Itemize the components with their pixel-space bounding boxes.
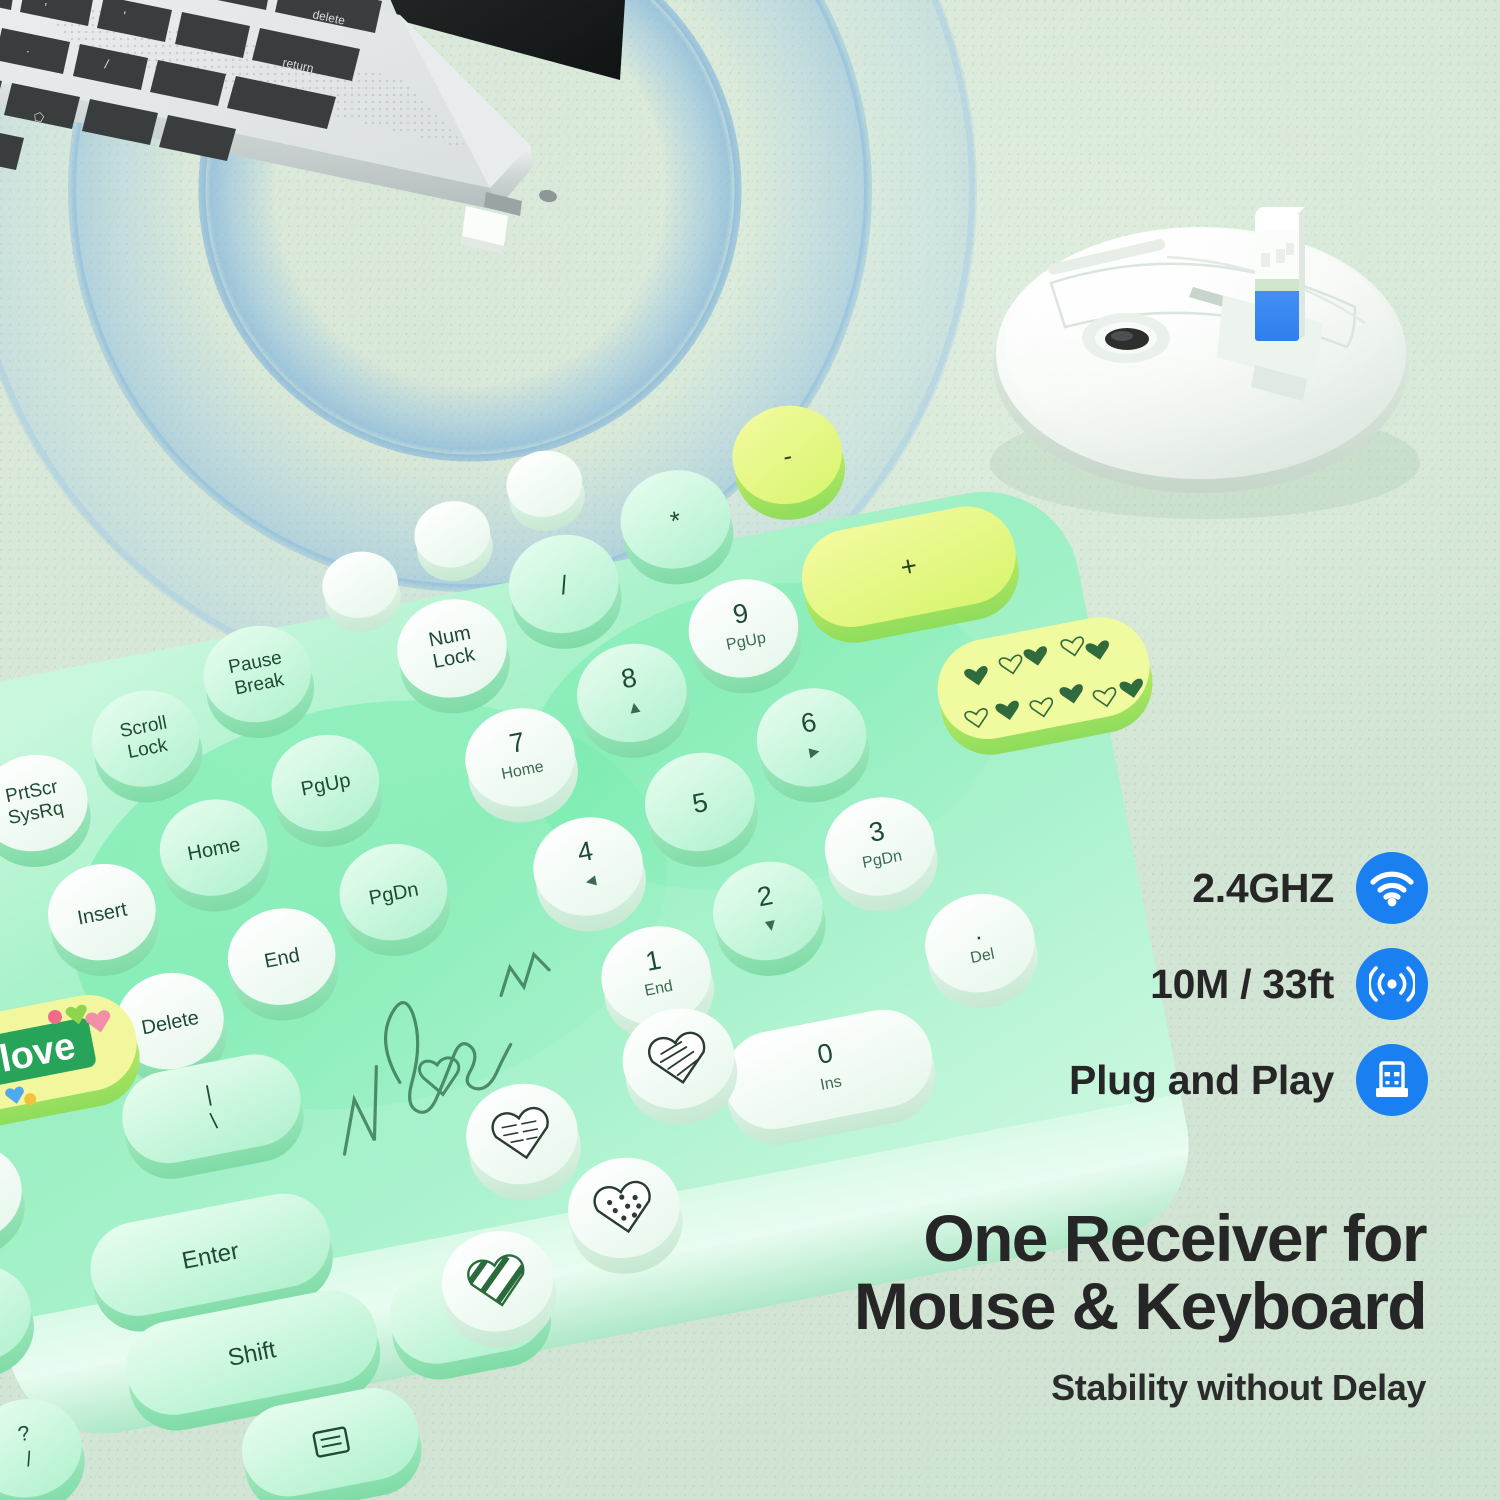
feature-row-2-4ghz: 2.4GHZ: [1192, 852, 1428, 924]
feature-list: 2.4GHZ 10M / 33ft: [1069, 852, 1428, 1116]
feature-row-plug-and-play: Plug and Play: [1069, 1044, 1428, 1116]
usb-nano-receiver: [1255, 207, 1305, 341]
usb-dongle-icon: [1356, 1044, 1428, 1116]
headline-line-1: One Receiver for: [854, 1205, 1426, 1273]
wifi-icon: [1356, 852, 1428, 924]
headline-line-2: Mouse & Keyboard: [854, 1273, 1426, 1341]
svg-text:►: ►: [804, 741, 824, 763]
headline-block: One Receiver for Mouse & Keyboard Stabil…: [854, 1205, 1426, 1409]
svg-text:▲: ▲: [624, 696, 644, 718]
numpad-minus-key: -: [724, 396, 854, 529]
feature-label-plug-and-play: Plug and Play: [1069, 1060, 1334, 1101]
laptop-device: F11 F12 F10: [0, 0, 650, 390]
radio-wave-icon: [1356, 948, 1428, 1020]
feature-row-range: 10M / 33ft: [1150, 948, 1428, 1020]
svg-text:▼: ▼: [761, 914, 781, 936]
product-image-stage: F11 F12 F10: [0, 0, 1500, 1500]
svg-text:◄: ◄: [581, 870, 601, 892]
feature-label-2-4ghz: 2.4GHZ: [1192, 868, 1334, 909]
feature-label-range: 10M / 33ft: [1150, 964, 1334, 1005]
page-title: One Receiver for Mouse & Keyboard: [854, 1205, 1426, 1341]
headline-subtitle: Stability without Delay: [854, 1367, 1426, 1409]
